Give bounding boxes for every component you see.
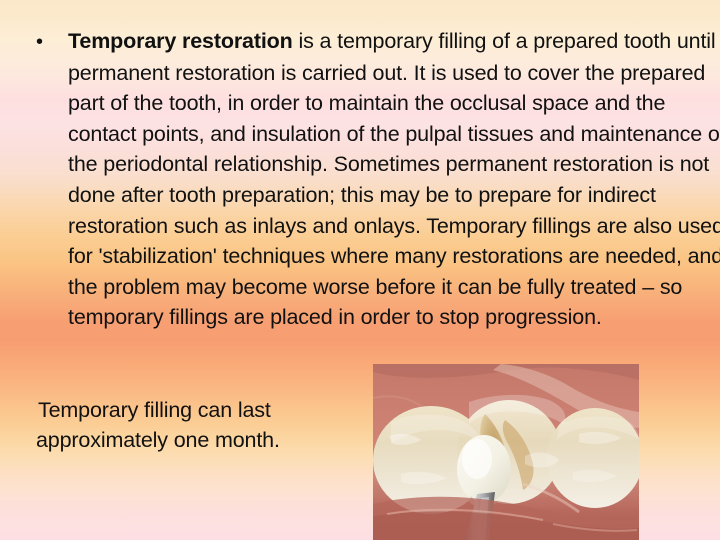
bullet-paragraph: •Temporary restoration is a temporary fi…: [36, 26, 720, 333]
bullet-body-text: is a temporary filling of a prepared too…: [68, 29, 720, 329]
slide-canvas: •Temporary restoration is a temporary fi…: [0, 0, 720, 540]
tail-line-two: approximately one month.: [36, 425, 376, 456]
bullet-point-icon: •: [36, 27, 68, 58]
clinical-photo-illustration: [373, 364, 639, 540]
clinical-photo: [373, 364, 639, 540]
tail-line-one: Temporary filling can last: [38, 395, 378, 426]
bullet-lead-term: Temporary restoration: [68, 29, 293, 53]
